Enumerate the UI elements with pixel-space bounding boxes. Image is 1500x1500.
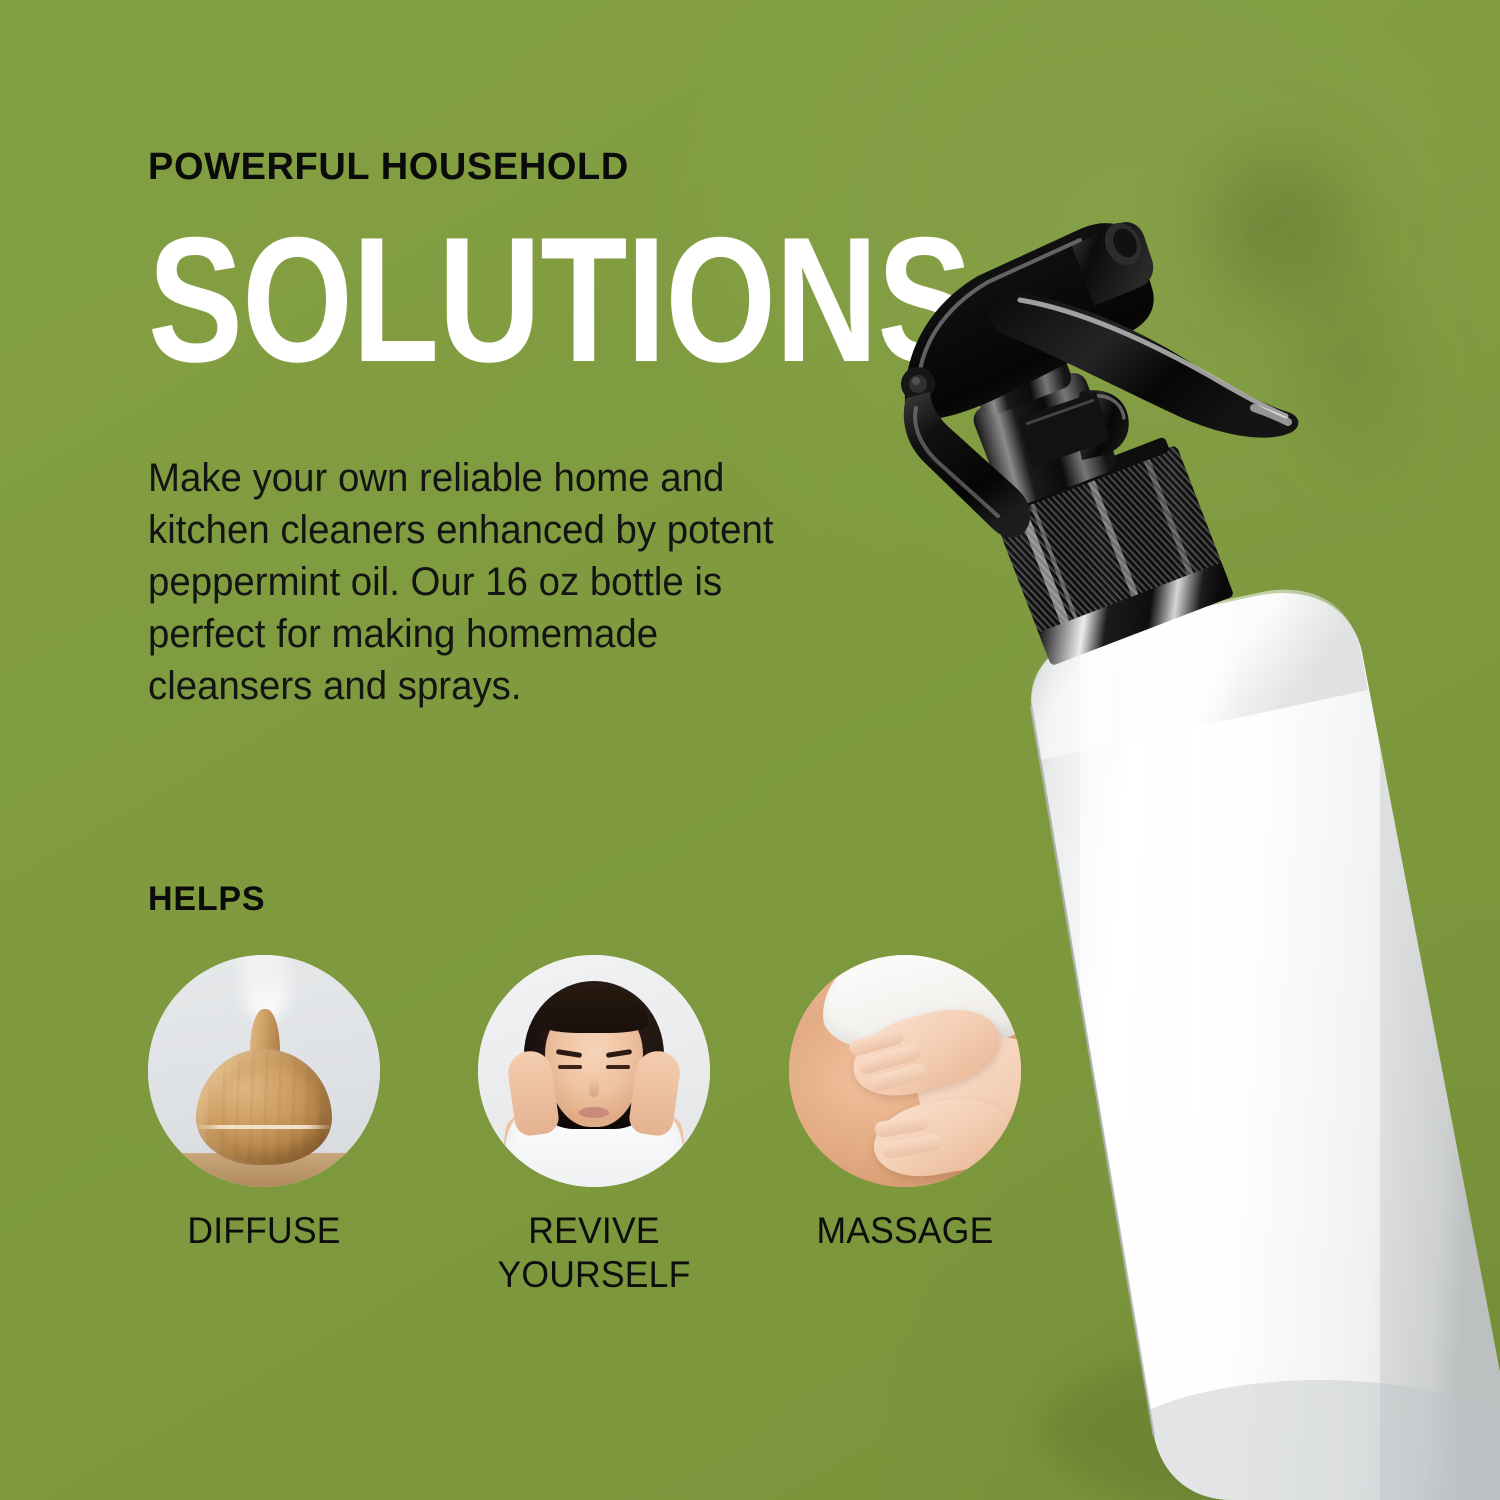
help-item-diffuse: DIFFUSE [148,955,380,1253]
massage-image [789,955,1021,1187]
eyebrow-text: POWERFUL HOUSEHOLD [148,146,629,189]
helps-row: DIFFUSE [148,955,1048,1375]
help-item-revive: REVIVE YOURSELF [478,955,710,1296]
diffuser-image [148,955,380,1187]
headache-woman-image [478,955,710,1187]
body-paragraph: Make your own reliable home and kitchen … [148,452,820,712]
product-infographic: POWERFUL HOUSEHOLD SOLUTIONS Make your o… [0,0,1500,1500]
helps-label: HELPS [148,880,265,919]
help-label-revive: REVIVE YOURSELF [483,1209,706,1296]
help-label-diffuse: DIFFUSE [153,1209,376,1253]
help-label-massage: MASSAGE [794,1209,1017,1253]
page-title: SOLUTIONS [148,222,972,379]
help-item-massage: MASSAGE [789,955,1021,1253]
